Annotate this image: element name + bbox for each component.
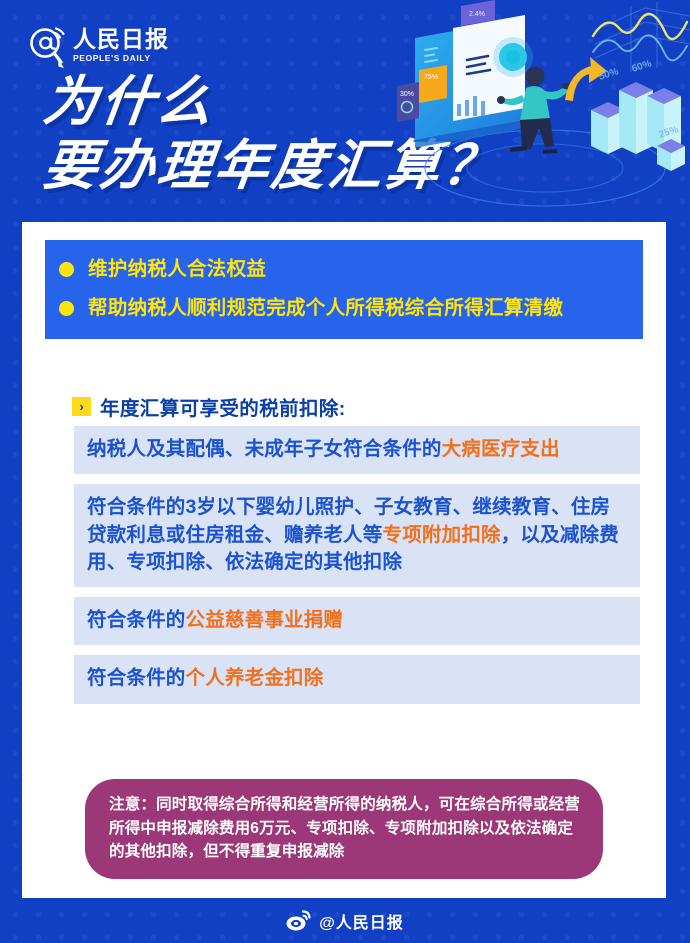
chevron-right-icon: › <box>72 397 91 416</box>
poster-root: 人民日报 PEOPLE'S DAILY 为什么 要办理年度汇算？ <box>0 0 690 943</box>
bullet-dot-icon <box>59 262 74 277</box>
card-text-segment: 符合条件的 <box>87 609 186 631</box>
svg-text:30%: 30% <box>400 91 414 98</box>
deduction-card: 符合条件的公益慈善事业捐赠 <box>74 597 640 645</box>
highlighted-term: 公益慈善事业捐赠 <box>186 609 344 631</box>
deduction-card: 符合条件的个人养老金扣除 <box>74 655 640 703</box>
card-text-segment: 符合条件的 <box>87 667 186 689</box>
deduction-card: 符合条件的3岁以下婴幼儿照护、子女教育、继续教育、住房贷款利息或住房租金、赡养老… <box>74 484 640 587</box>
section-title-text: 年度汇算可享受的税前扣除: <box>100 392 346 421</box>
header: 人民日报 PEOPLE'S DAILY 为什么 要办理年度汇算？ <box>0 0 690 228</box>
data-dashboard-illustration: 2.4% 75% 30% <box>395 0 690 222</box>
svg-text:2.4%: 2.4% <box>469 11 485 18</box>
list-item: 维护纳税人合法权益 <box>59 256 629 284</box>
benefit-text: 维护纳税人合法权益 <box>88 256 266 284</box>
deduction-card-text: 纳税人及其配偶、未成年子女符合条件的大病医疗支出 <box>87 436 627 463</box>
deduction-card-text: 符合条件的个人养老金扣除 <box>87 665 627 692</box>
highlighted-term: 大病医疗支出 <box>442 438 560 460</box>
weibo-icon <box>286 910 311 931</box>
list-item: 帮助纳税人顺利规范完成个人所得税综合所得汇算清缴 <box>59 295 629 323</box>
benefit-text: 帮助纳税人顺利规范完成个人所得税综合所得汇算清缴 <box>88 295 563 323</box>
content-panel: 维护纳税人合法权益 帮助纳税人顺利规范完成个人所得税综合所得汇算清缴 › 年度汇… <box>22 222 666 898</box>
note-box: 注意：同时取得综合所得和经营所得的纳税人，可在综合所得或经营所得中申报减除费用6… <box>85 779 603 879</box>
weibo-handle: @人民日报 <box>319 909 404 933</box>
benefits-box: 维护纳税人合法权益 帮助纳税人顺利规范完成个人所得税综合所得汇算清缴 <box>45 240 643 339</box>
brand-logo: 人民日报 PEOPLE'S DAILY <box>28 26 169 70</box>
svg-text:60%: 60% <box>631 58 654 75</box>
deduction-card-text: 符合条件的3岁以下婴幼儿照护、子女教育、继续教育、住房贷款利息或住房租金、赡养老… <box>87 494 627 576</box>
deduction-card-text: 符合条件的公益慈善事业捐赠 <box>87 607 627 634</box>
section-heading: › 年度汇算可享受的税前扣除: <box>72 392 346 421</box>
deduction-card-list: 纳税人及其配偶、未成年子女符合条件的大病医疗支出符合条件的3岁以下婴幼儿照护、子… <box>74 426 640 714</box>
deduction-card: 纳税人及其配偶、未成年子女符合条件的大病医疗支出 <box>74 426 640 474</box>
logo-chinese-name: 人民日报 <box>73 28 169 51</box>
footer: @人民日报 <box>0 898 690 943</box>
logo-english-name: PEOPLE'S DAILY <box>73 54 169 63</box>
svg-text:75%: 75% <box>424 74 438 81</box>
card-text-segment: 纳税人及其配偶、未成年子女符合条件的 <box>87 438 442 460</box>
bullet-dot-icon <box>59 301 74 316</box>
highlighted-term: 个人养老金扣除 <box>186 667 324 689</box>
at-magnifier-icon <box>28 26 68 70</box>
highlighted-term: 专项附加扣除 <box>383 524 501 546</box>
note-text: 注意：同时取得综合所得和经营所得的纳税人，可在综合所得或经营所得中申报减除费用6… <box>109 793 581 864</box>
